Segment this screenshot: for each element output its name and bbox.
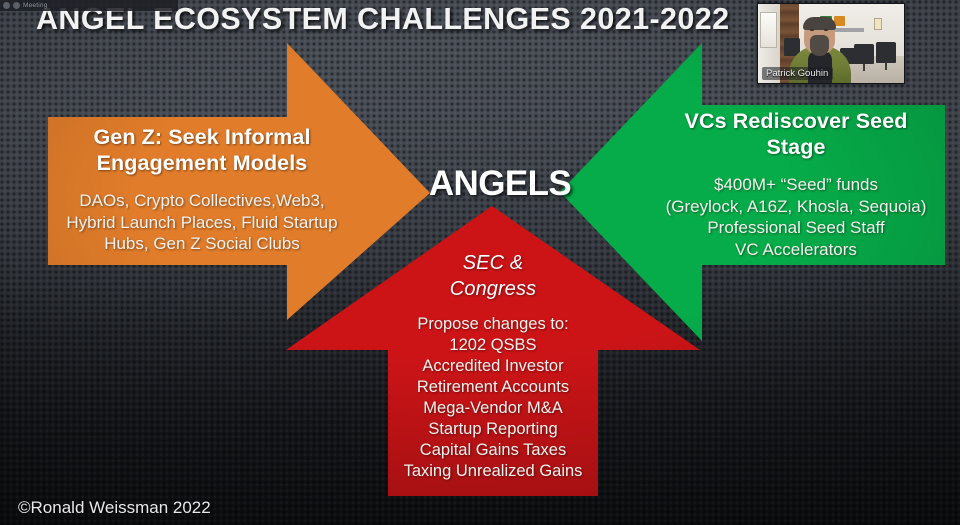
green-body-line-2: (Greylock, A16Z, Khosla, Sequoia): [648, 196, 944, 218]
red-block-text: SEC & Congress Propose changes to: 1202 …: [382, 250, 604, 482]
green-body-line-1: $400M+ “Seed” funds: [648, 174, 944, 196]
green-block-body: $400M+ “Seed” funds (Greylock, A16Z, Kho…: [648, 174, 944, 260]
red-body-line-2: 1202 QSBS: [382, 335, 604, 356]
green-heading-line-1: VCs Rediscover Seed: [648, 108, 944, 134]
red-body-line-8: Taxing Unrealized Gains: [382, 461, 604, 482]
participant-video-tile[interactable]: Patrick Gouhin: [757, 3, 905, 84]
red-heading-line-1: SEC &: [382, 250, 604, 276]
green-body-line-3: Professional Seed Staff: [648, 217, 944, 239]
video-person-hair: [803, 17, 836, 30]
orange-block-body: DAOs, Crypto Collectives,Web3, Hybrid La…: [52, 190, 352, 255]
video-person-eye-right: [824, 29, 828, 31]
video-chair: [876, 42, 896, 63]
app-chrome-strip[interactable]: Meeting: [0, 0, 178, 11]
video-chair: [854, 44, 874, 64]
video-person-eye-left: [810, 29, 814, 31]
orange-body-line-3: Hubs, Gen Z Social Clubs: [52, 233, 352, 255]
copyright-notice: ©Ronald Weissman 2022: [18, 498, 211, 518]
app-status-icon[interactable]: [13, 2, 20, 9]
center-label-angels: ANGELS: [420, 164, 580, 204]
red-body-line-4: Retirement Accounts: [382, 377, 604, 398]
red-block-body: Propose changes to: 1202 QSBS Accredited…: [382, 314, 604, 482]
green-block-heading: VCs Rediscover Seed Stage: [648, 108, 944, 160]
red-body-line-5: Mega-Vendor M&A: [382, 398, 604, 419]
participant-name-label: Patrick Gouhin: [762, 67, 833, 80]
orange-body-line-2: Hybrid Launch Places, Fluid Startup: [52, 212, 352, 234]
green-heading-line-2: Stage: [648, 134, 944, 160]
red-body-line-1: Propose changes to:: [382, 314, 604, 335]
presentation-screen: ANGEL ECOSYSTEM CHALLENGES 2021-2022 Gen…: [0, 0, 960, 525]
red-block-heading: SEC & Congress: [382, 250, 604, 302]
red-heading-line-2: Congress: [382, 276, 604, 302]
green-block-text: VCs Rediscover Seed Stage $400M+ “Seed” …: [648, 108, 944, 260]
video-window: [760, 12, 777, 48]
orange-heading-line-1: Gen Z: Seek Informal: [52, 124, 352, 150]
green-body-line-4: VC Accelerators: [648, 239, 944, 261]
orange-block-text: Gen Z: Seek Informal Engagement Models D…: [52, 124, 352, 255]
video-chair-leg: [863, 64, 865, 71]
red-body-line-7: Capital Gains Taxes: [382, 440, 604, 461]
red-body-line-6: Startup Reporting: [382, 419, 604, 440]
orange-heading-line-2: Engagement Models: [52, 150, 352, 176]
orange-block-heading: Gen Z: Seek Informal Engagement Models: [52, 124, 352, 176]
orange-body-line-1: DAOs, Crypto Collectives,Web3,: [52, 190, 352, 212]
video-person-beard: [810, 35, 829, 56]
red-body-line-3: Accredited Investor: [382, 356, 604, 377]
app-strip-label: Meeting: [23, 2, 48, 9]
video-chair-leg: [885, 63, 887, 70]
video-wall-sconce: [874, 18, 882, 30]
app-menu-icon[interactable]: [3, 2, 10, 9]
